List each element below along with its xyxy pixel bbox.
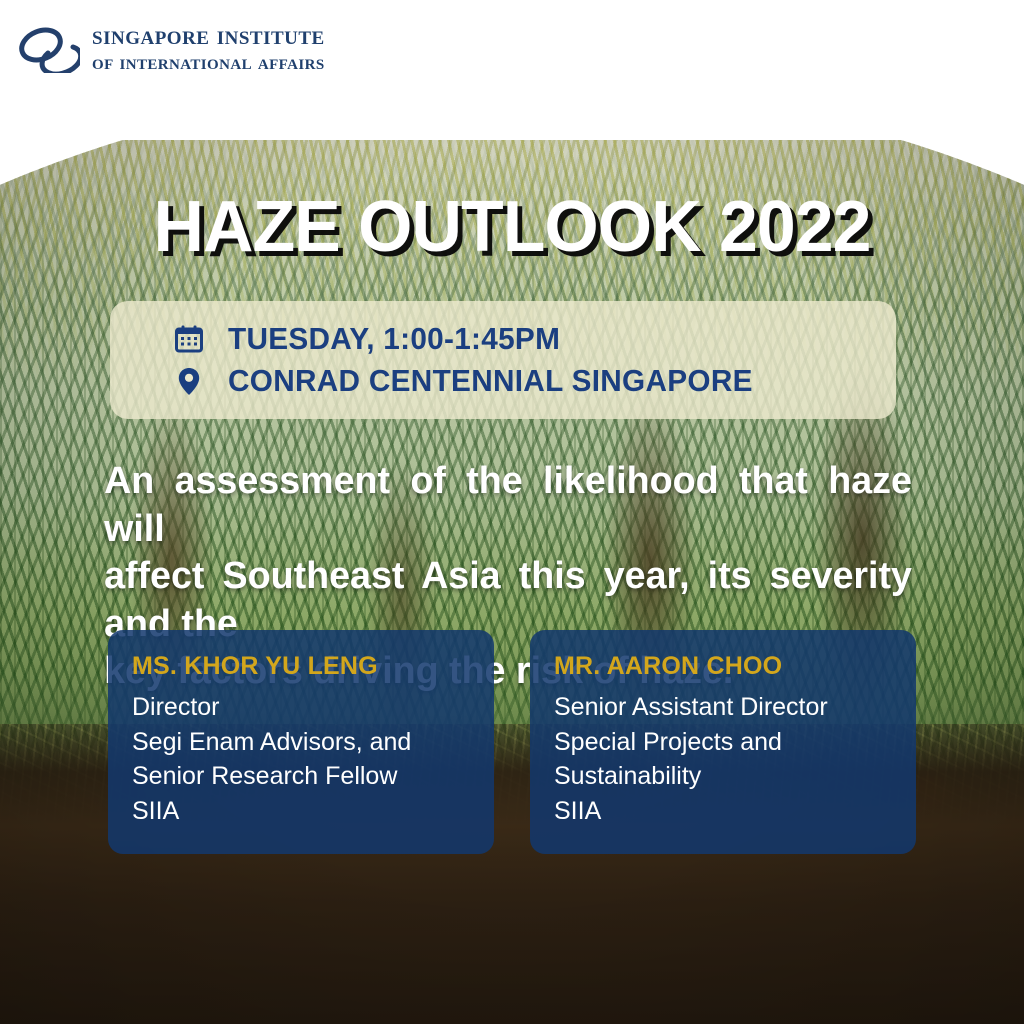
logo-line-2: of International Affairs <box>92 51 325 73</box>
speaker-affiliation-line: SIIA <box>132 794 470 829</box>
speaker-org-line: Special Projects and <box>554 725 892 760</box>
event-date-text: TUESDAY, 1:00-1:45PM <box>228 321 560 357</box>
event-details-card: TUESDAY, 1:00-1:45PM CONRAD CENTENNIAL S… <box>110 301 896 419</box>
speaker-role-line: Director <box>132 690 470 725</box>
speaker-name: MR. AARON CHOO <box>554 652 892 681</box>
speaker-org-line: Segi Enam Advisors, and <box>132 725 470 760</box>
description-line-1: An assessment of the likelihood that haz… <box>104 458 912 553</box>
event-date-row: TUESDAY, 1:00-1:45PM <box>172 321 896 357</box>
siia-logo-text: Singapore Institute of International Aff… <box>92 22 325 73</box>
speaker-affiliation-line: SIIA <box>554 794 892 829</box>
speaker-role-line: Senior Assistant Director <box>554 690 892 725</box>
page-title: HAZE OUTLOOK 2022 <box>15 191 1008 263</box>
location-pin-icon <box>172 364 206 398</box>
speaker-role-line-2: Sustainability <box>554 759 892 794</box>
event-poster: Singapore Institute of International Aff… <box>0 0 1024 1024</box>
siia-interlocking-ellipses-logo-icon <box>18 23 80 73</box>
speaker-card-1: MS. KHOR YU LENG Director Segi Enam Advi… <box>108 630 494 854</box>
event-venue-row: CONRAD CENTENNIAL SINGAPORE <box>172 363 896 399</box>
siia-logo: Singapore Institute of International Aff… <box>18 22 325 73</box>
poster-content: HAZE OUTLOOK 2022 TUESDAY, 1:00 <box>0 0 1024 1024</box>
calendar-icon <box>172 322 206 356</box>
speaker-role-line-2: Senior Research Fellow <box>132 759 470 794</box>
logo-line-1: Singapore Institute <box>92 22 325 49</box>
event-venue-text: CONRAD CENTENNIAL SINGAPORE <box>228 363 753 399</box>
speaker-card-2: MR. AARON CHOO Senior Assistant Director… <box>530 630 916 854</box>
speakers-section: MS. KHOR YU LENG Director Segi Enam Advi… <box>0 630 1024 854</box>
speaker-name: MS. KHOR YU LENG <box>132 652 470 681</box>
header-band: Singapore Institute of International Aff… <box>0 0 1024 140</box>
